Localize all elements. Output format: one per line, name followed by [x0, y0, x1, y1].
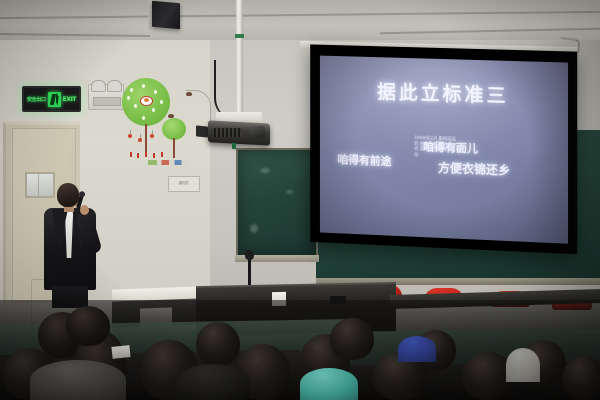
podium-microphone: [245, 250, 254, 260]
wall-notice-text: 通知栏: [169, 181, 199, 186]
bird-decal: [168, 114, 174, 118]
projector-lens: [250, 126, 265, 140]
grass-decal: [130, 152, 132, 157]
wall-color-strip: [148, 160, 188, 165]
presenter-head: [57, 183, 79, 207]
projector-vent: [214, 128, 242, 137]
projector-pole-band: [235, 34, 244, 38]
ceiling-seam: [380, 28, 600, 35]
grass-decal: [161, 152, 163, 157]
hanging-ornament-decal: [138, 134, 142, 142]
door-window: [25, 172, 55, 198]
audience-shoulders: [506, 348, 540, 382]
exit-sign-english-label: EXIT: [63, 96, 76, 103]
blackboard-center: [236, 148, 318, 257]
grass-decal: [153, 153, 155, 158]
chalk-smudge: [250, 224, 258, 233]
audience-head: [196, 322, 240, 366]
tree-decal-small: [162, 118, 186, 140]
presenter-hand: [80, 205, 89, 215]
projector-mount-pole: [236, 0, 243, 118]
hanging-ornament-decal: [128, 130, 132, 138]
tree-trunk-small: [173, 138, 175, 158]
audience-head: [66, 306, 110, 346]
emergency-lamp-left: [91, 80, 106, 92]
wall-shadow: [530, 40, 600, 330]
grass-decal: [145, 152, 147, 157]
ceiling-seam: [0, 33, 150, 37]
audience-head: [562, 356, 600, 400]
emergency-lamp-right: [107, 80, 122, 92]
chalk-smudge: [260, 168, 270, 173]
wall-speaker-small: [196, 125, 208, 137]
wall-notice: 通知栏: [168, 176, 200, 192]
lecture-hall-photo: 安全出口 EXIT 通知栏: [0, 0, 600, 400]
projector-foot: [232, 143, 236, 149]
audience-shoulders: [398, 336, 436, 362]
wall-speaker: [152, 1, 180, 29]
hanging-ornament-decal: [150, 130, 154, 138]
audience-paper: [111, 345, 130, 359]
audience-shoulders: [176, 364, 250, 400]
ceiling-seam: [0, 11, 600, 19]
bird-nest-decal: [140, 96, 153, 106]
exit-sign-chinese-label: 安全出口: [27, 96, 46, 103]
emergency-exit-sign: 安全出口 EXIT: [22, 86, 81, 112]
emergency-light: [88, 84, 124, 110]
chalk-smudge: [286, 190, 293, 194]
audience-shoulders: [300, 368, 358, 400]
grass-decal: [137, 153, 139, 158]
running-man-icon: [48, 92, 61, 107]
audience-shoulders: [30, 360, 126, 400]
audience-head: [330, 318, 374, 360]
emergency-light-body: [93, 97, 121, 106]
